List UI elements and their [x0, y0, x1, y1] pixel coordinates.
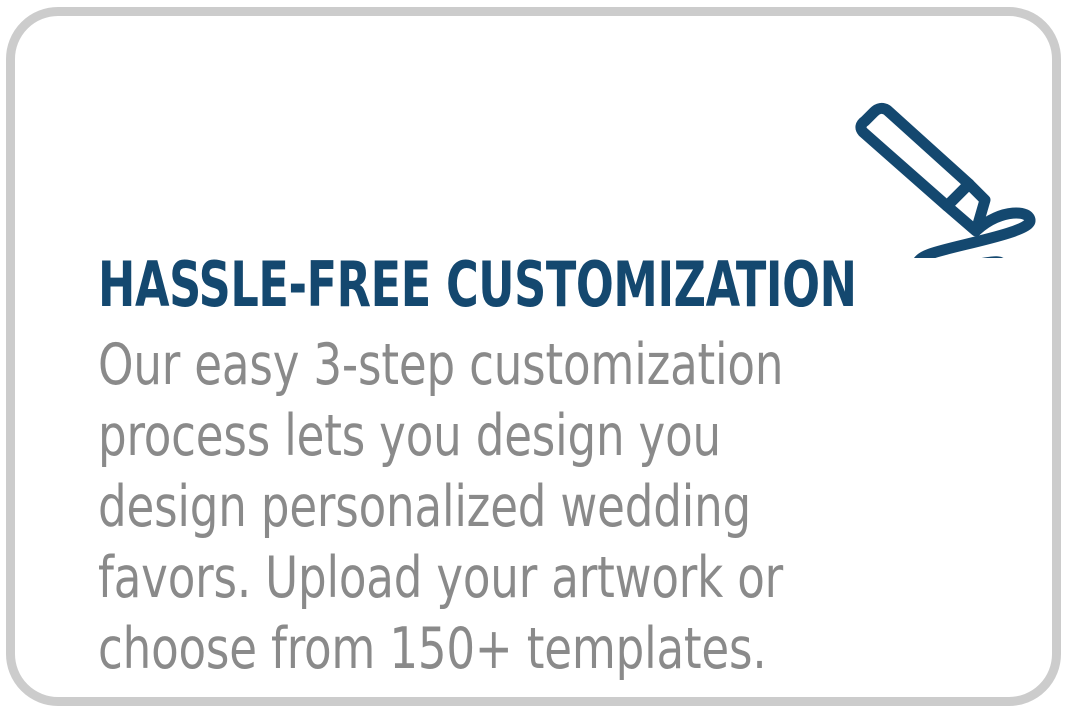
card-description: Our easy 3-step customization process le… — [98, 316, 890, 685]
pen-barrel-shape — [861, 108, 969, 206]
page-title: HASSLE-FREE CUSTOMIZATION — [98, 254, 818, 316]
feature-card: HASSLE-FREE CUSTOMIZATION Our easy 3-ste… — [6, 7, 1061, 706]
description-line: design personalized wedding — [98, 472, 890, 543]
description-line: Our easy 3-step customization — [98, 330, 890, 401]
description-line: process lets you design you — [98, 401, 890, 472]
description-line: favors. Upload your artwork or — [98, 543, 890, 614]
description-line: choose from 150+ templates. — [98, 614, 890, 685]
card-text-block: HASSLE-FREE CUSTOMIZATION Our easy 3-ste… — [98, 254, 998, 685]
pen-scribble-icon — [841, 58, 1051, 258]
